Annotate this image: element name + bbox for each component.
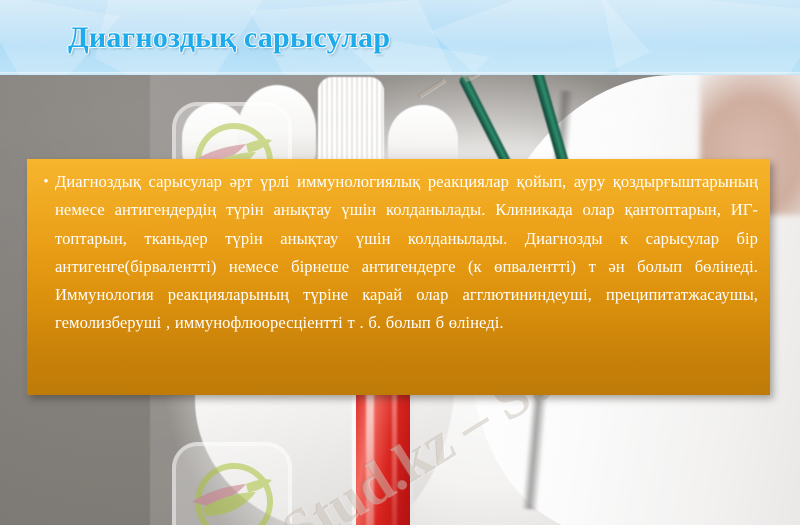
bullet-list: • Диагноздық сарысулар әрт үрлі иммуноло…	[37, 168, 762, 338]
presentation-slide: – Stud.kz Stud.kz – Stud.kz Диагноздық с…	[0, 0, 800, 525]
test-tube-cap-3	[318, 77, 384, 169]
bullet-body-text: Диагноздық сарысулар әрт үрлі иммунологи…	[55, 168, 762, 338]
list-item: • Диагноздық сарысулар әрт үрлі иммуноло…	[37, 168, 762, 338]
bullet-marker-icon: •	[37, 168, 55, 196]
content-text-box: • Диагноздық сарысулар әрт үрлі иммуноло…	[27, 159, 770, 395]
slide-title: Диагноздық сарысулар	[68, 20, 390, 56]
blood-test-tube-highlight-secondary	[392, 375, 397, 525]
header-underline	[0, 72, 800, 75]
header-facet	[600, 0, 800, 75]
